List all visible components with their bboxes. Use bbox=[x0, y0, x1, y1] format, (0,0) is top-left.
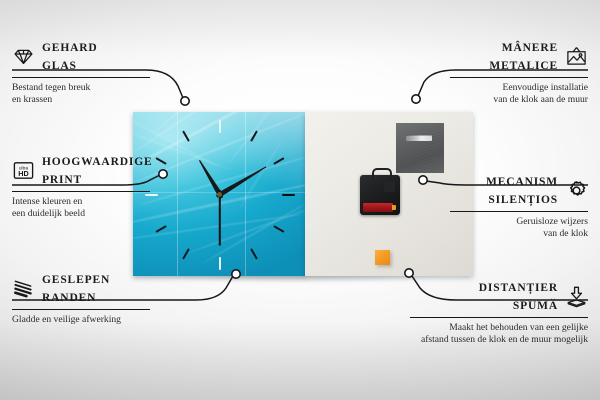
feature-desc-line1: Eenvoudige installatie bbox=[450, 82, 588, 94]
feature-geslepen-randen: GESLEPEN RANDEN Gladde en veilige afwerk… bbox=[12, 270, 150, 326]
feature-desc-line1: Geruisloze wijzers bbox=[450, 216, 588, 228]
product-image bbox=[120, 104, 480, 280]
clock-second-hand bbox=[219, 190, 221, 246]
feature-divider bbox=[12, 77, 150, 78]
picture-hanger-icon bbox=[565, 45, 588, 68]
wall-clock-front bbox=[133, 112, 306, 276]
feature-desc-line2: van de klok bbox=[450, 228, 588, 240]
clock-center-cap bbox=[217, 192, 222, 197]
feature-desc-line2: en krassen bbox=[12, 94, 150, 106]
feature-divider bbox=[450, 77, 588, 78]
feature-title: PRINT bbox=[42, 174, 82, 186]
feature-desc-line2: afstand tussen de klok en de muur mogeli… bbox=[410, 334, 588, 346]
feature-desc-line1: Gladde en veilige afwerking bbox=[12, 314, 150, 326]
feature-divider bbox=[12, 191, 150, 192]
feature-title: GLAS bbox=[42, 60, 77, 72]
foam-spacer bbox=[375, 250, 390, 265]
metal-hanger-plate bbox=[396, 123, 444, 173]
gear-icon bbox=[565, 179, 588, 202]
svg-text:HD: HD bbox=[18, 168, 29, 177]
feature-divider bbox=[12, 309, 150, 310]
feature-title: MECANISM bbox=[486, 176, 558, 188]
feature-title: MÂNERE bbox=[502, 42, 558, 54]
clock-mechanism bbox=[360, 175, 400, 215]
feature-divider bbox=[450, 211, 588, 212]
feature-manere-metalice: MÂNERE METALICE Eenvoudige installatie v… bbox=[450, 38, 588, 106]
beveled-edges-icon bbox=[12, 277, 35, 300]
feature-title: GESLEPEN bbox=[42, 274, 110, 286]
feature-desc-line1: Intense kleuren en bbox=[12, 196, 150, 208]
feature-desc-line2: van de klok aan de muur bbox=[450, 94, 588, 106]
feature-distantier-spuma: DISTANȚIER SPUMĂ Maakt het behouden van … bbox=[410, 278, 588, 346]
spacer-arrow-icon bbox=[565, 285, 588, 308]
feature-title: RANDEN bbox=[42, 292, 96, 304]
feature-desc-line1: Bestand tegen breuk bbox=[12, 82, 150, 94]
ultra-hd-icon: ultra HD bbox=[12, 159, 35, 182]
feature-gehard-glas: GEHARD GLAS Bestand tegen breuk en krass… bbox=[12, 38, 150, 106]
feature-title: HOOGWAARDIGE bbox=[42, 156, 153, 168]
feature-mecanism-silentios: MECANISM SILENȚIOS Geruisloze wijzers va… bbox=[450, 172, 588, 240]
feature-desc-line1: Maakt het behouden van een gelijke bbox=[410, 322, 588, 334]
feature-hoogwaardige-print: ultra HD HOOGWAARDIGE PRINT Intense kleu… bbox=[12, 152, 150, 220]
feature-title: DISTANȚIER bbox=[479, 282, 558, 294]
feature-desc-line2: een duidelijk beeld bbox=[12, 208, 150, 220]
feature-title: SILENȚIOS bbox=[488, 194, 558, 206]
feature-title: METALICE bbox=[489, 60, 558, 72]
feature-divider bbox=[410, 317, 588, 318]
infographic-canvas: GEHARD GLAS Bestand tegen breuk en krass… bbox=[0, 0, 600, 400]
feature-title: SPUMĂ bbox=[513, 300, 558, 312]
hanger-keyhole-slot bbox=[406, 135, 432, 141]
feature-title: GEHARD bbox=[42, 42, 98, 54]
mechanism-housing bbox=[384, 181, 395, 192]
battery bbox=[363, 203, 393, 212]
mechanism-hanging-loop bbox=[372, 168, 392, 179]
clock-back-panel bbox=[305, 112, 473, 276]
diamond-icon bbox=[12, 45, 35, 68]
